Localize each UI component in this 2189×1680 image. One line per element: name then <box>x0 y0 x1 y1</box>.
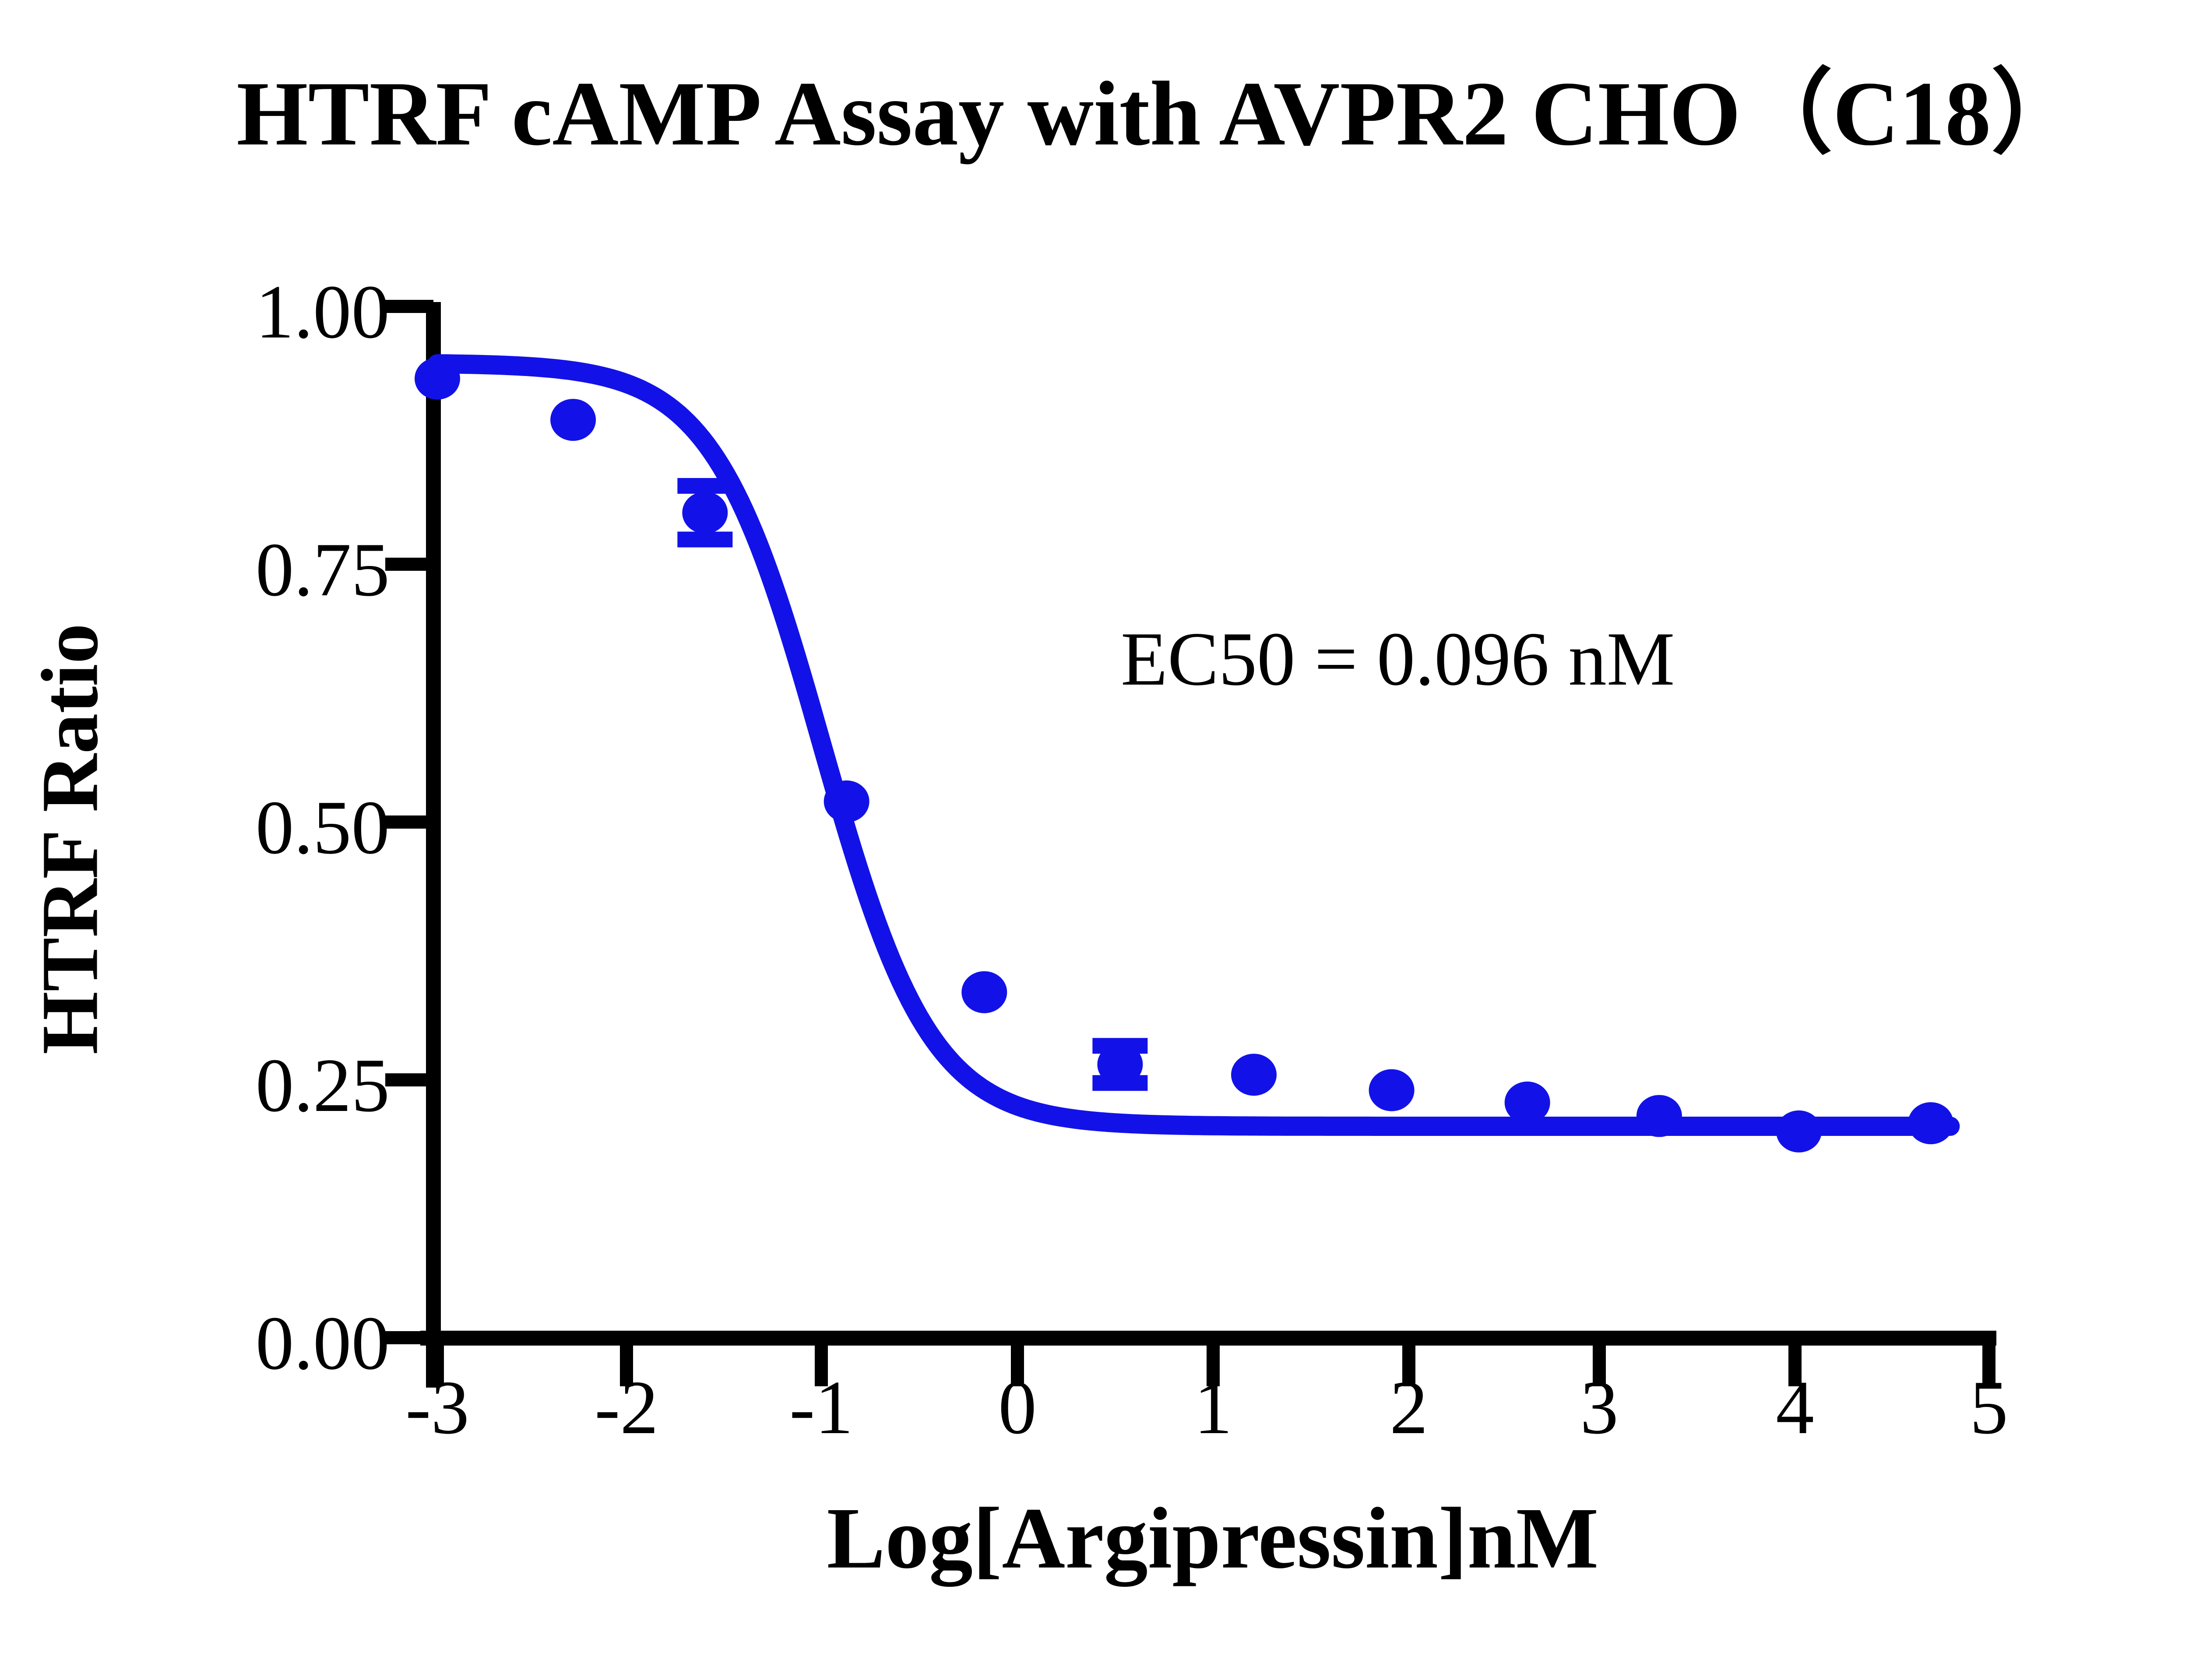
data-point <box>1908 1102 1953 1144</box>
plot-area <box>0 0 2189 1680</box>
fit-curve <box>437 364 1950 1126</box>
data-point <box>415 358 460 400</box>
data-point <box>1505 1082 1550 1124</box>
data-point <box>1369 1069 1415 1111</box>
data-point <box>1231 1054 1277 1096</box>
data-point <box>1636 1095 1682 1137</box>
data-point <box>550 399 596 441</box>
chart-figure: HTRF cAMP Assay with AVPR2 CHO（C18） HTRF… <box>0 0 2189 1680</box>
data-point <box>1097 1044 1143 1086</box>
data-point <box>1776 1111 1822 1153</box>
axis-lines <box>420 302 1996 1388</box>
data-point <box>824 780 869 822</box>
data-points <box>415 358 1953 1153</box>
data-point <box>961 971 1007 1013</box>
data-point <box>682 492 728 534</box>
